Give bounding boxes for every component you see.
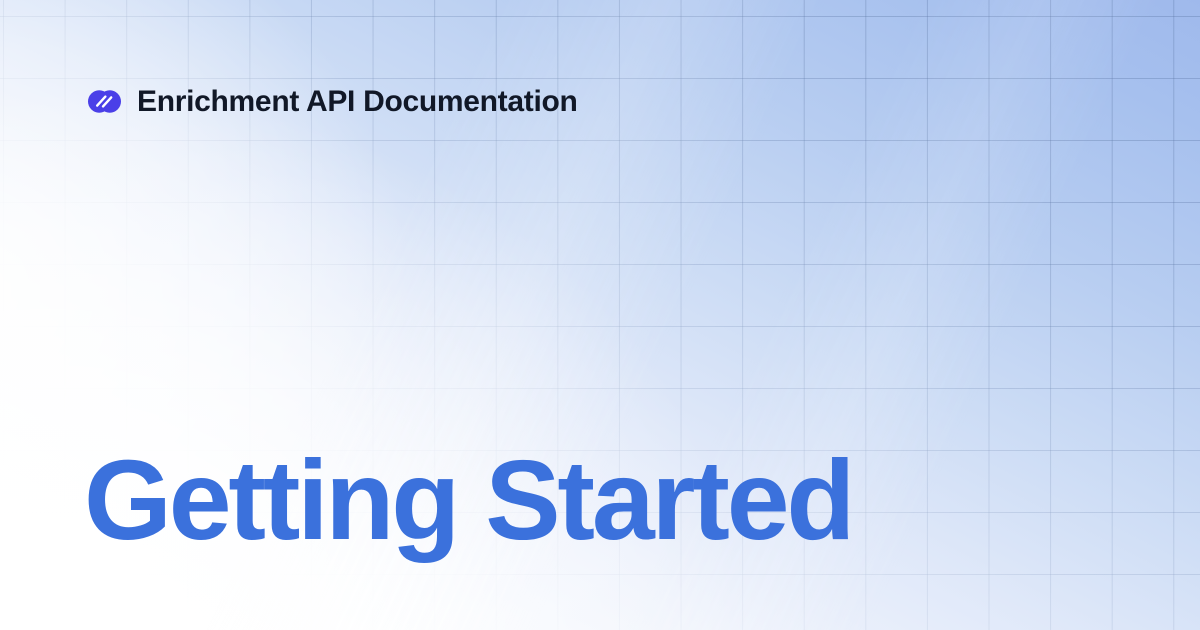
card-content: Enrichment API Documentation Getting Sta… xyxy=(0,0,1200,630)
brand-logo-icon xyxy=(88,86,121,117)
page-title: Getting Started xyxy=(84,444,852,557)
brand-title: Enrichment API Documentation xyxy=(137,87,578,117)
og-card: Enrichment API Documentation Getting Sta… xyxy=(0,0,1200,630)
brand-row: Enrichment API Documentation xyxy=(88,86,578,117)
